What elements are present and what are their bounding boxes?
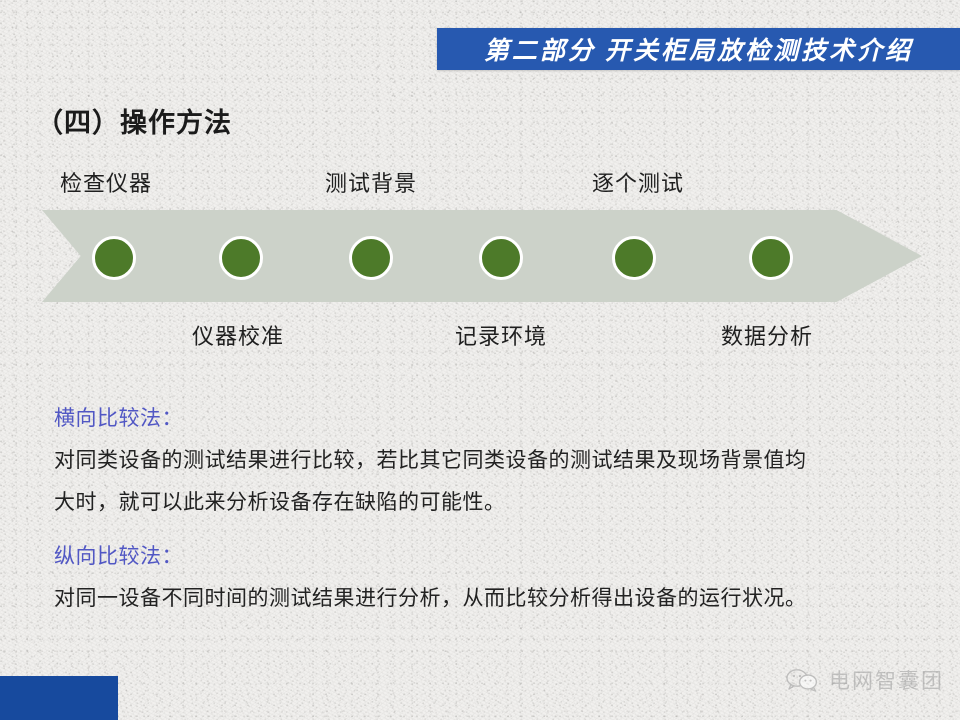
- process-label-bottom-1: 仪器校准: [192, 319, 284, 351]
- header-banner: 第二部分 开关柜局放检测技术介绍: [437, 28, 960, 70]
- slide-canvas: 第二部分 开关柜局放检测技术介绍 （四）操作方法 检查仪器 测试背景 逐个测试 …: [0, 0, 960, 720]
- process-label-top-3: 逐个测试: [592, 166, 684, 198]
- process-node-1: [92, 236, 136, 280]
- process-node-2: [219, 236, 263, 280]
- process-node-4: [479, 236, 523, 280]
- paragraph-1-line-2: 大时，就可以此来分析设备存在缺陷的可能性。: [54, 482, 924, 524]
- wechat-icon: [786, 668, 820, 692]
- paragraph-body-2: 对同一设备不同时间的测试结果进行分析，从而比较分析得出设备的运行状况。: [54, 578, 924, 620]
- process-flow-diagram: 检查仪器 测试背景 逐个测试 仪器校准 记录环境 数据分析: [0, 155, 960, 355]
- paragraph-vertical-comparison: 纵向比较法： 对同一设备不同时间的测试结果进行分析，从而比较分析得出设备的运行状…: [54, 536, 924, 620]
- process-label-top-2: 测试背景: [325, 166, 417, 198]
- paragraph-1-line-1: 对同类设备的测试结果进行比较，若比其它同类设备的测试结果及现场背景值均: [54, 440, 924, 482]
- process-label-bottom-2: 记录环境: [455, 319, 547, 351]
- paragraph-heading-2: 纵向比较法：: [54, 536, 924, 578]
- paragraph-body-1: 对同类设备的测试结果进行比较，若比其它同类设备的测试结果及现场背景值均 大时，就…: [54, 440, 924, 524]
- process-label-bottom-3: 数据分析: [721, 319, 813, 351]
- paragraph-2-line-1: 对同一设备不同时间的测试结果进行分析，从而比较分析得出设备的运行状况。: [54, 578, 924, 620]
- process-node-6: [749, 236, 793, 280]
- page-title: （四）操作方法: [36, 101, 232, 140]
- body-text-block: 横向比较法： 对同类设备的测试结果进行比较，若比其它同类设备的测试结果及现场背景…: [54, 398, 924, 620]
- process-node-5: [612, 236, 656, 280]
- watermark: 电网智囊团: [786, 665, 944, 695]
- paragraph-spacer: [54, 524, 924, 536]
- process-label-top-1: 检查仪器: [60, 166, 152, 198]
- header-banner-title: 第二部分 开关柜局放检测技术介绍: [484, 31, 913, 67]
- footer-accent-block: [0, 676, 118, 720]
- paragraph-heading-1: 横向比较法：: [54, 398, 924, 440]
- process-node-3: [349, 236, 393, 280]
- paragraph-horizontal-comparison: 横向比较法： 对同类设备的测试结果进行比较，若比其它同类设备的测试结果及现场背景…: [54, 398, 924, 524]
- watermark-label: 电网智囊团: [829, 665, 944, 695]
